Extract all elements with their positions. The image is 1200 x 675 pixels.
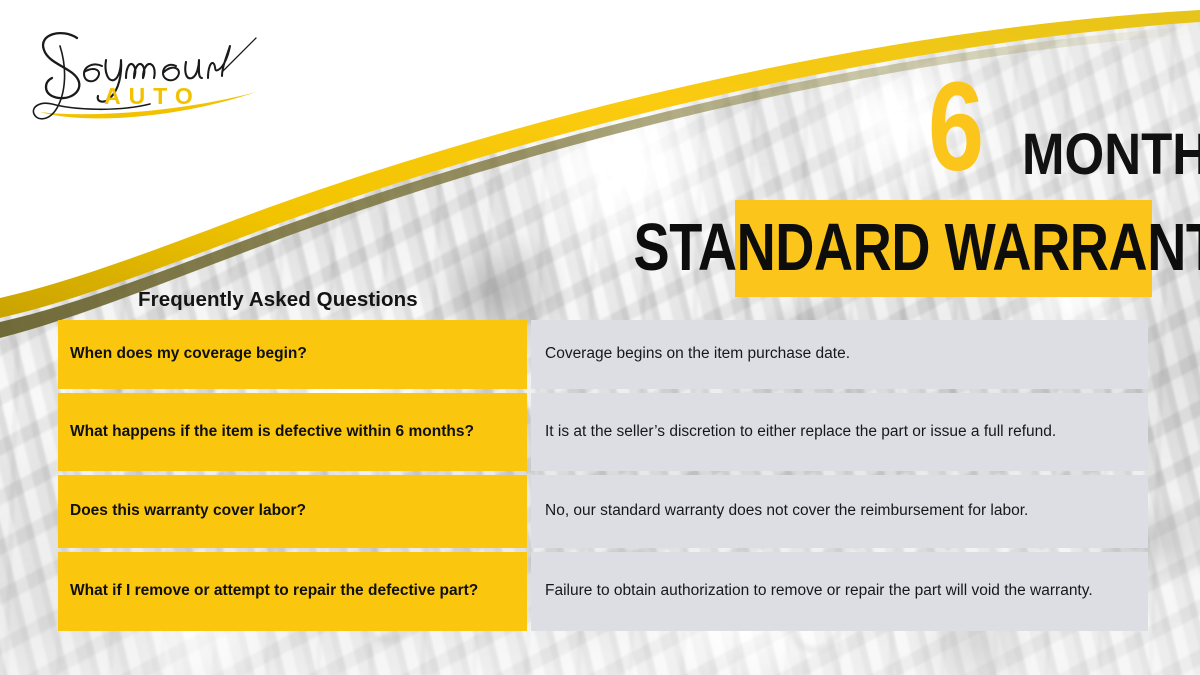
faq-heading: Frequently Asked Questions: [138, 288, 418, 312]
faq-row: What happens if the item is defective wi…: [58, 393, 1148, 471]
faq-answer-cell: No, our standard warranty does not cover…: [531, 475, 1148, 548]
svg-text:AUTO: AUTO: [104, 83, 201, 109]
faq-answer-cell: It is at the seller’s discretion to eith…: [531, 393, 1148, 471]
faq-table: When does my coverage begin? Coverage be…: [58, 320, 1148, 631]
warranty-duration-unit: MONTH: [1022, 126, 1200, 184]
faq-question-cell: Does this warranty cover labor?: [58, 475, 527, 548]
faq-answer-cell: Coverage begins on the item purchase dat…: [531, 320, 1148, 389]
faq-row: When does my coverage begin? Coverage be…: [58, 320, 1148, 389]
standard-warranty-banner-text: STANDARD WARRANTY: [633, 215, 1200, 282]
faq-question-cell: When does my coverage begin?: [58, 320, 527, 389]
seymour-auto-logo[interactable]: AUTO: [22, 16, 272, 128]
standard-warranty-banner: STANDARD WARRANTY: [735, 200, 1152, 297]
warranty-slide: AUTO 6 MONTH STANDARD WARRANTY Frequentl…: [0, 0, 1200, 675]
warranty-duration-number: 6: [928, 73, 982, 181]
logo-auto-text: AUTO: [104, 83, 201, 109]
faq-question-cell: What happens if the item is defective wi…: [58, 393, 527, 471]
faq-answer-text: Coverage begins on the item purchase dat…: [545, 344, 1136, 365]
faq-question-cell: What if I remove or attempt to repair th…: [58, 552, 527, 631]
faq-answer-text: Failure to obtain authorization to remov…: [545, 581, 1136, 602]
faq-answer-text: It is at the seller’s discretion to eith…: [545, 422, 1136, 443]
faq-answer-text: No, our standard warranty does not cover…: [545, 501, 1136, 522]
faq-answer-cell: Failure to obtain authorization to remov…: [531, 552, 1148, 631]
faq-row: Does this warranty cover labor? No, our …: [58, 475, 1148, 548]
faq-row: What if I remove or attempt to repair th…: [58, 552, 1148, 631]
